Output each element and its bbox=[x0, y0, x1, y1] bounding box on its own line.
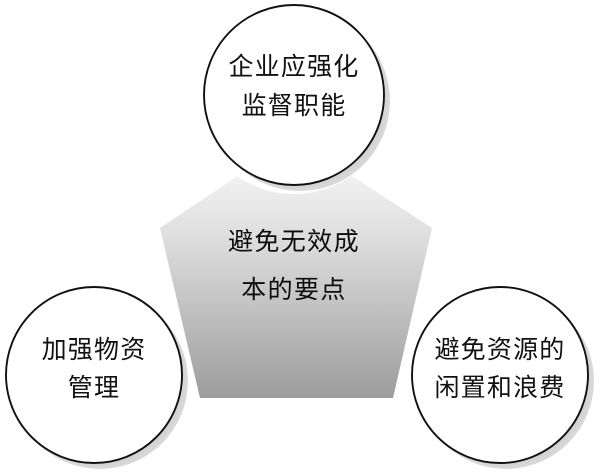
node-bottom-right-label-line-2: 闲置和浪费 bbox=[434, 373, 565, 402]
node-bottom-left-label-line-1: 加强物资 bbox=[42, 335, 147, 364]
diagram-canvas: 企业应强化 监督职能 加强物资 管理 避免资源的 闲置和浪费 避免无效成 本的要… bbox=[0, 0, 600, 474]
node-top-label-line-1: 企业应强化 bbox=[228, 52, 359, 81]
node-bottom-right-label-line-1: 避免资源的 bbox=[434, 335, 565, 364]
center-label-line-2: 本的要点 bbox=[241, 275, 347, 304]
node-top-label-line-2: 监督职能 bbox=[242, 91, 347, 120]
hub-and-spoke-diagram: 企业应强化 监督职能 加强物资 管理 避免资源的 闲置和浪费 避免无效成 本的要… bbox=[0, 0, 600, 474]
node-bottom-right[interactable]: 避免资源的 闲置和浪费 bbox=[412, 287, 594, 469]
node-bottom-left[interactable]: 加强物资 管理 bbox=[6, 287, 188, 469]
node-bottom-left-label-line-2: 管理 bbox=[68, 373, 120, 402]
center-label-line-1: 避免无效成 bbox=[228, 227, 360, 256]
node-top[interactable]: 企业应强化 监督职能 bbox=[204, 5, 390, 191]
